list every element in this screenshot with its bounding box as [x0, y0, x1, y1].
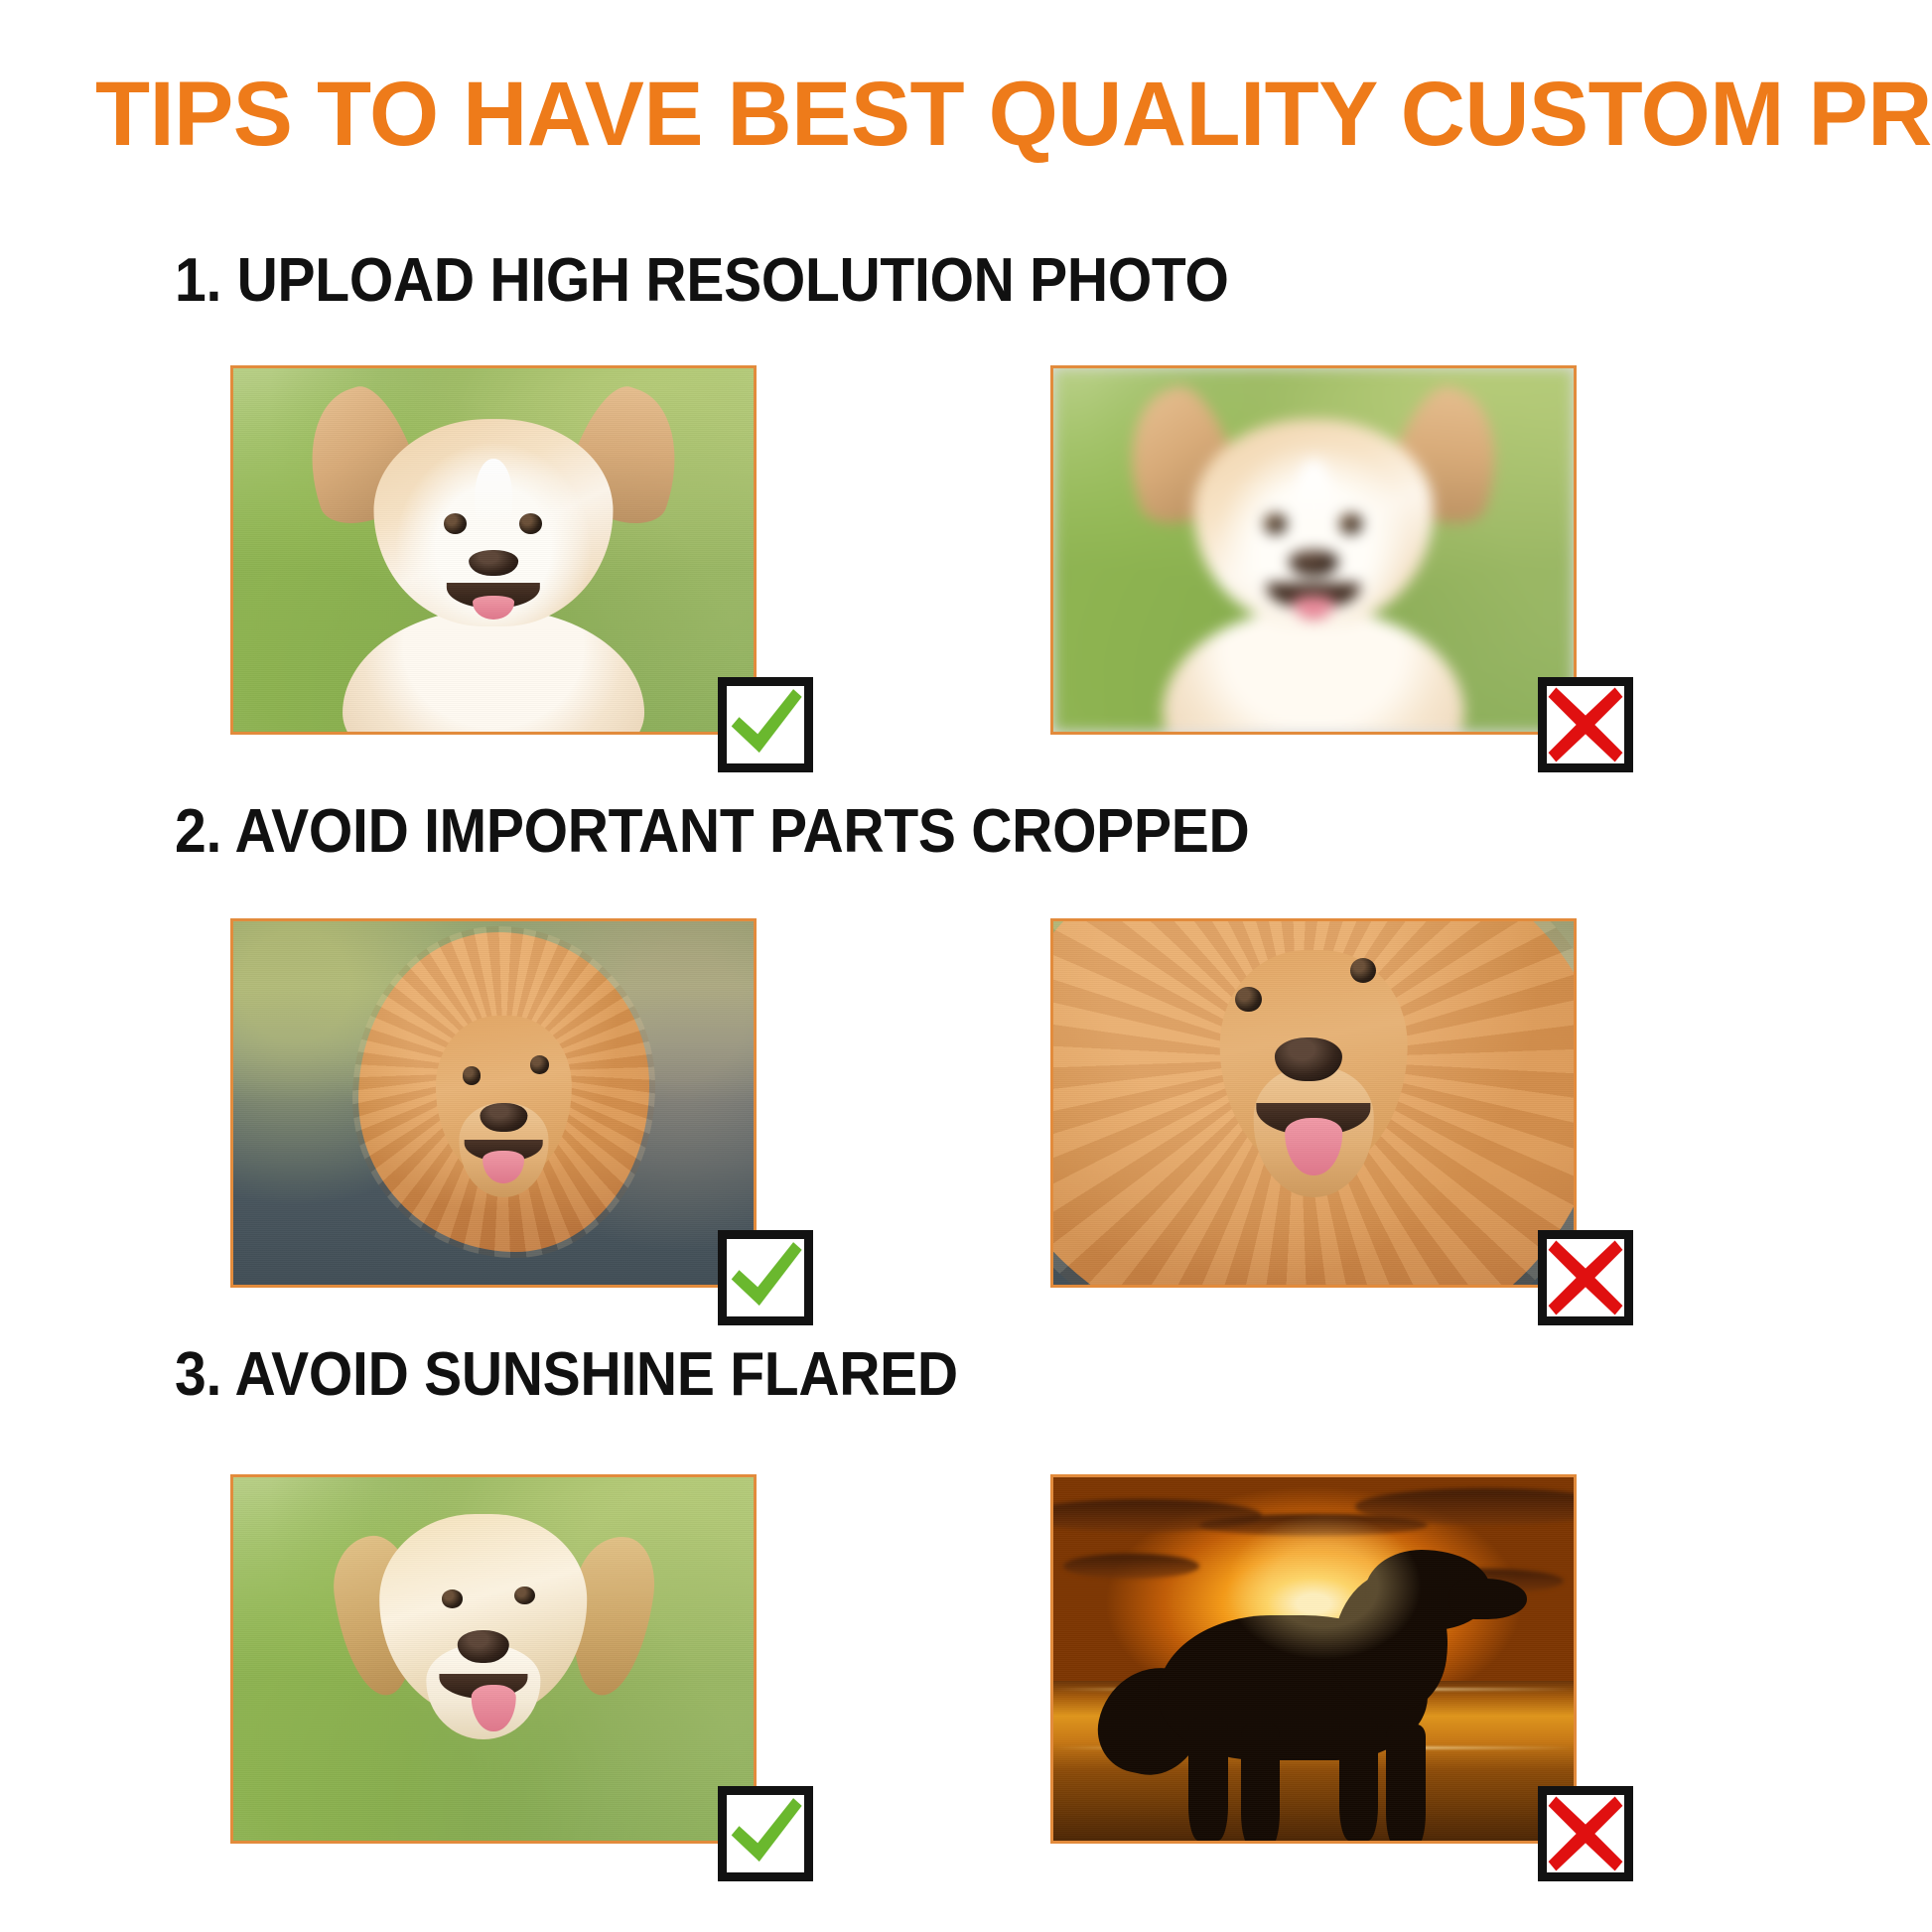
corgi-sharp-scene	[233, 368, 754, 732]
status-badge-bad-3	[1538, 1786, 1633, 1881]
corgi-eye-left	[444, 513, 467, 533]
corgi-blaze	[1295, 459, 1333, 554]
photo-good-3	[230, 1474, 757, 1844]
corgi-nose	[1289, 550, 1338, 576]
cross-icon	[1547, 686, 1624, 763]
corgi-blurry-scene	[1053, 368, 1574, 732]
photo-bad-1	[1050, 365, 1577, 735]
infographic-page: TIPS TO HAVE BEST QUALITY CUSTOM PRODUCT…	[0, 0, 1932, 1932]
doodle-eye-left	[1235, 987, 1261, 1013]
silhouette-snout	[1449, 1579, 1527, 1618]
photo-bad-3	[1050, 1474, 1577, 1844]
dog-silhouette	[1053, 1477, 1574, 1841]
silhouette-leg	[1241, 1725, 1280, 1841]
retriever-eye-right	[514, 1587, 535, 1604]
silhouette-leg	[1188, 1718, 1227, 1841]
status-badge-bad-1	[1538, 677, 1633, 772]
cross-icon	[1547, 1795, 1624, 1872]
photo-bad-2	[1050, 918, 1577, 1288]
corgi-eye-right	[1339, 513, 1362, 533]
corgi-nose	[469, 550, 518, 576]
doodle-cropped-scene	[1053, 921, 1574, 1285]
doodle-eye-left	[463, 1066, 482, 1084]
retriever-eye-left	[442, 1589, 463, 1607]
corgi-eye-right	[519, 513, 542, 533]
status-badge-good-1	[718, 677, 813, 772]
sunset-silhouette-scene	[1053, 1477, 1574, 1841]
status-badge-good-3	[718, 1786, 813, 1881]
status-badge-good-2	[718, 1230, 813, 1325]
section-heading-1: 1. UPLOAD HIGH RESOLUTION PHOTO	[175, 248, 1229, 314]
doodle-eye-right	[530, 1055, 549, 1073]
doodle-eye-right	[1350, 958, 1376, 984]
silhouette-leg	[1386, 1725, 1425, 1841]
check-icon	[727, 1239, 804, 1316]
check-icon	[727, 1795, 804, 1872]
section-heading-2: 2. AVOID IMPORTANT PARTS CROPPED	[175, 799, 1249, 865]
corgi-blaze	[475, 459, 513, 554]
doodle-full-scene	[233, 921, 754, 1285]
doodle-nose	[1275, 1037, 1342, 1081]
photo-good-2	[230, 918, 757, 1288]
section-heading-3: 3. AVOID SUNSHINE FLARED	[175, 1342, 958, 1408]
photo-good-1	[230, 365, 757, 735]
cross-icon	[1547, 1239, 1624, 1316]
page-title: TIPS TO HAVE BEST QUALITY CUSTOM PRODUCT…	[95, 66, 1837, 163]
check-icon	[727, 686, 804, 763]
silhouette-leg	[1339, 1718, 1378, 1841]
status-badge-bad-2	[1538, 1230, 1633, 1325]
corgi-eye-left	[1264, 513, 1287, 533]
golden-retriever-scene	[233, 1477, 754, 1841]
